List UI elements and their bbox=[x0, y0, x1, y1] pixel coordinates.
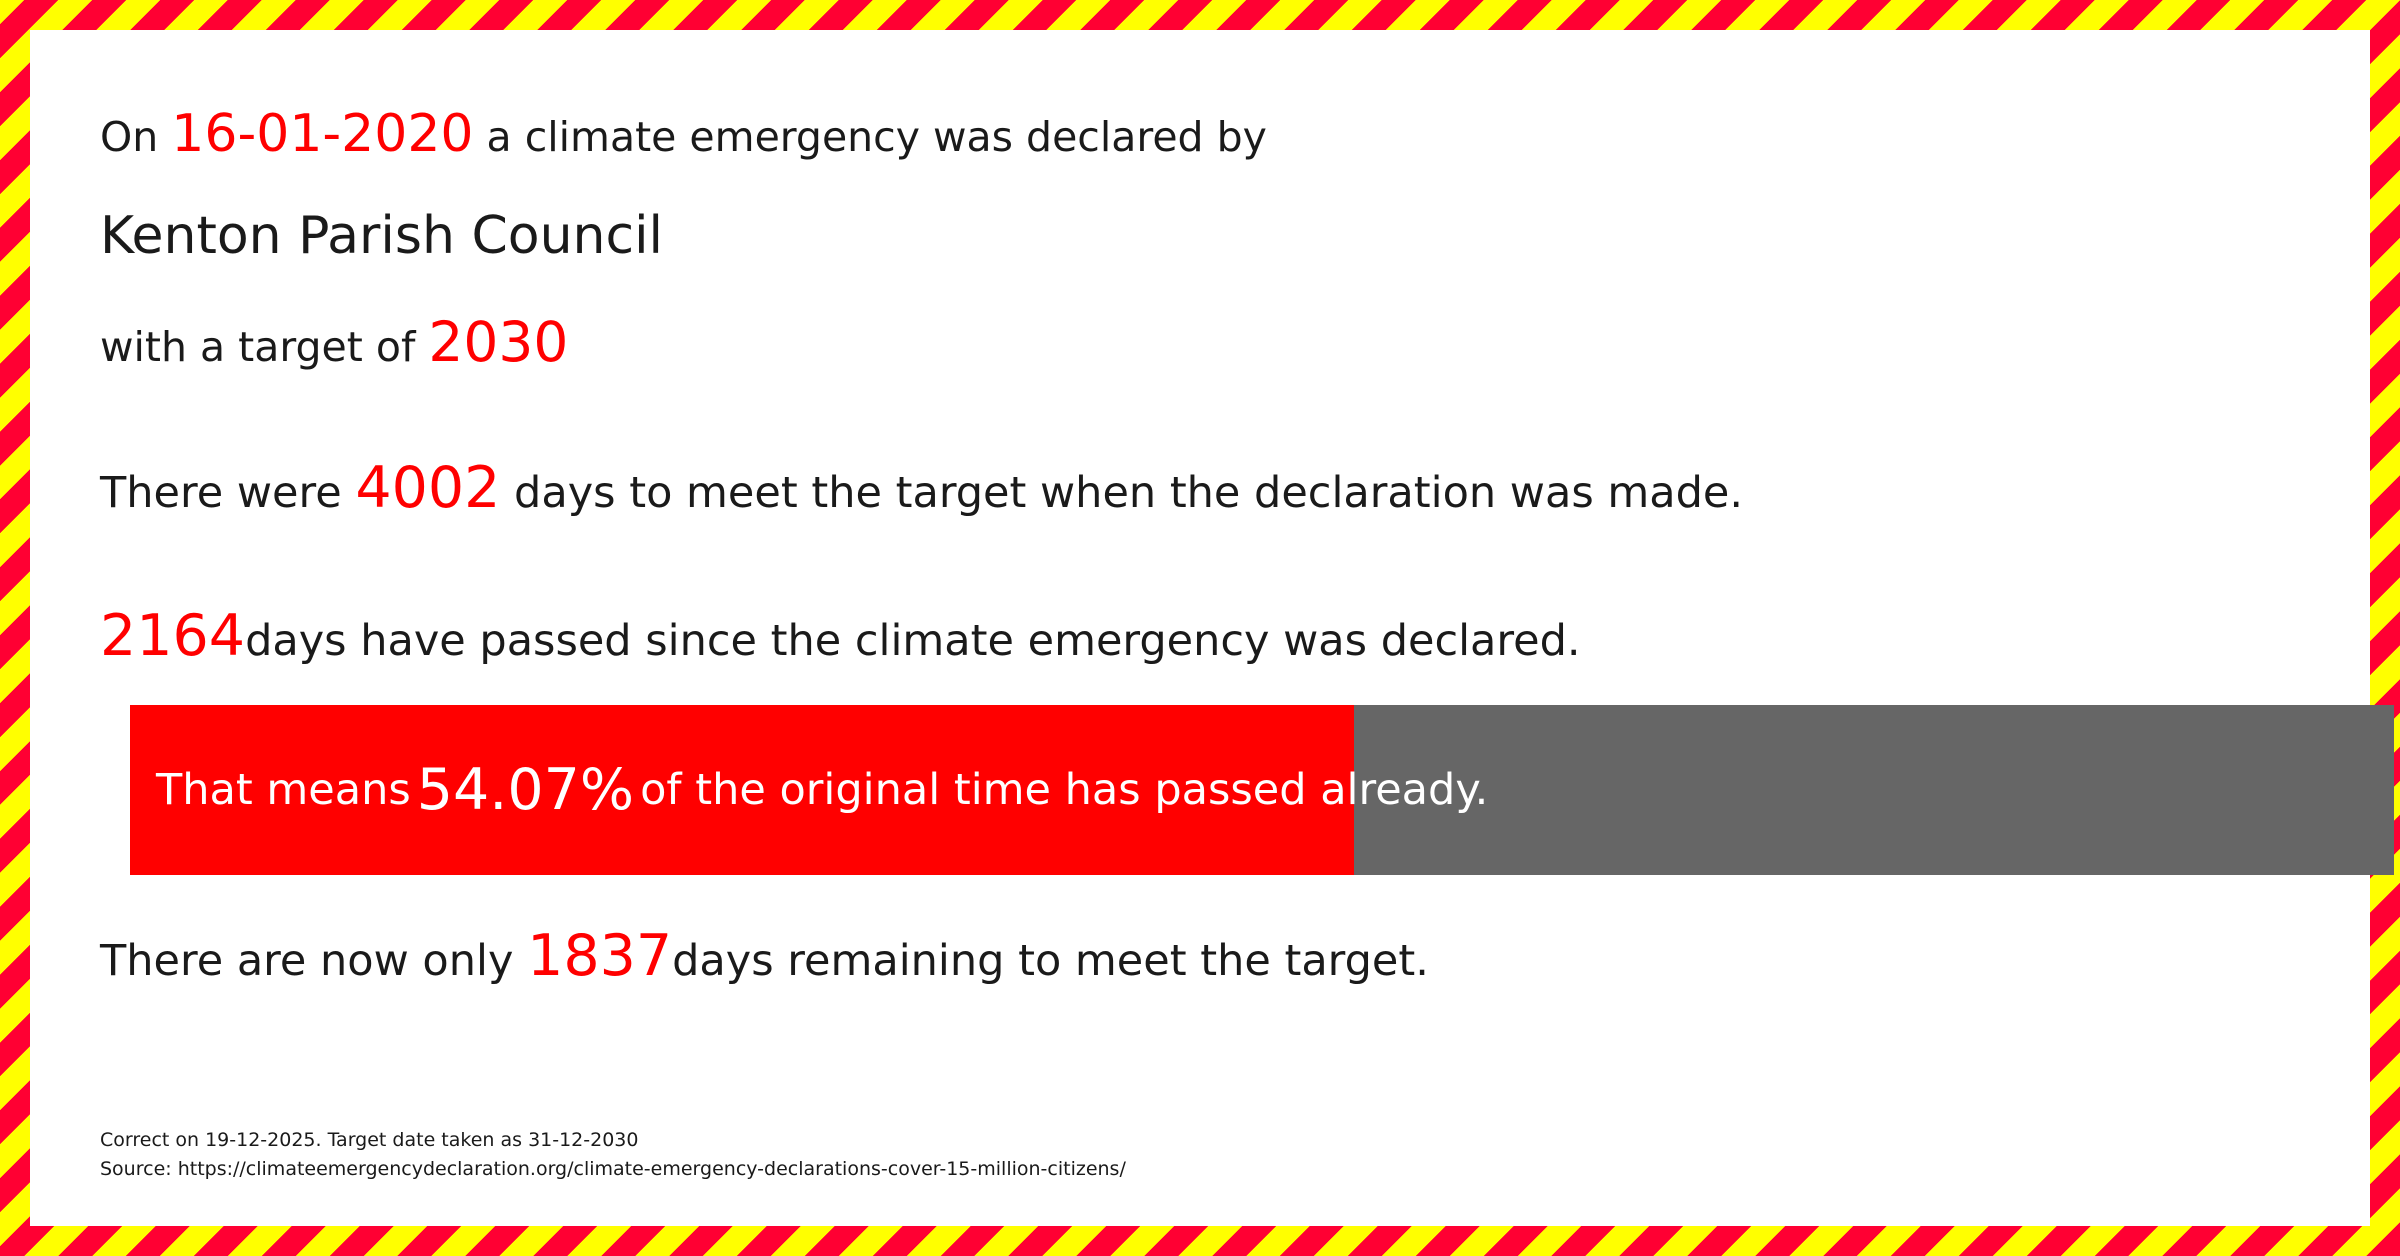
progress-label-prefix-text: That means bbox=[156, 765, 411, 815]
progress-bar-label: That means 54.07%of the original time ha… bbox=[156, 705, 1488, 875]
time-elapsed-progress-bar: That means 54.07%of the original time ha… bbox=[130, 705, 2394, 875]
content-area: On 16-01-2020 a climate emergency was de… bbox=[100, 30, 2340, 1226]
declaration-date-line: On 16-01-2020 a climate emergency was de… bbox=[100, 108, 1267, 160]
progress-percent-value: 54.07% bbox=[411, 757, 640, 823]
hazard-striped-frame: On 16-01-2020 a climate emergency was de… bbox=[0, 0, 2400, 1256]
target-prefix-text: with a target of bbox=[100, 323, 428, 371]
days-to-target-suffix-text: days to meet the target when the declara… bbox=[500, 468, 1743, 518]
days-passed-line: 2164days have passed since the climate e… bbox=[100, 608, 1581, 665]
days-remaining-line: There are now only 1837days remaining to… bbox=[100, 928, 1429, 985]
content-card: On 16-01-2020 a climate emergency was de… bbox=[30, 30, 2370, 1226]
days-remaining-value: 1837 bbox=[527, 923, 672, 989]
declaration-suffix-text: a climate emergency was declared by bbox=[474, 113, 1267, 161]
days-remaining-prefix-text: There are now only bbox=[100, 936, 527, 986]
target-year-value: 2030 bbox=[428, 310, 568, 374]
days-passed-value: 2164 bbox=[100, 603, 245, 669]
footnote-correct-on: Correct on 19-12-2025. Target date taken… bbox=[100, 1126, 1126, 1155]
declaration-prefix-text: On bbox=[100, 113, 171, 161]
declaration-date-value: 16-01-2020 bbox=[171, 104, 473, 164]
footnotes: Correct on 19-12-2025. Target date taken… bbox=[100, 1126, 1126, 1185]
council-name: Kenton Parish Council bbox=[100, 210, 663, 262]
target-year-line: with a target of 2030 bbox=[100, 315, 568, 370]
progress-label-suffix-text: of the original time has passed already. bbox=[640, 765, 1488, 815]
days-to-target-prefix-text: There were bbox=[100, 468, 355, 518]
footnote-source: Source: https://climateemergencydeclarat… bbox=[100, 1155, 1126, 1184]
days-remaining-suffix-text: days remaining to meet the target. bbox=[672, 936, 1429, 986]
days-to-target-line: There were 4002 days to meet the target … bbox=[100, 460, 1743, 517]
days-passed-suffix-text: days have passed since the climate emerg… bbox=[245, 616, 1580, 666]
days-to-target-value: 4002 bbox=[355, 455, 500, 521]
